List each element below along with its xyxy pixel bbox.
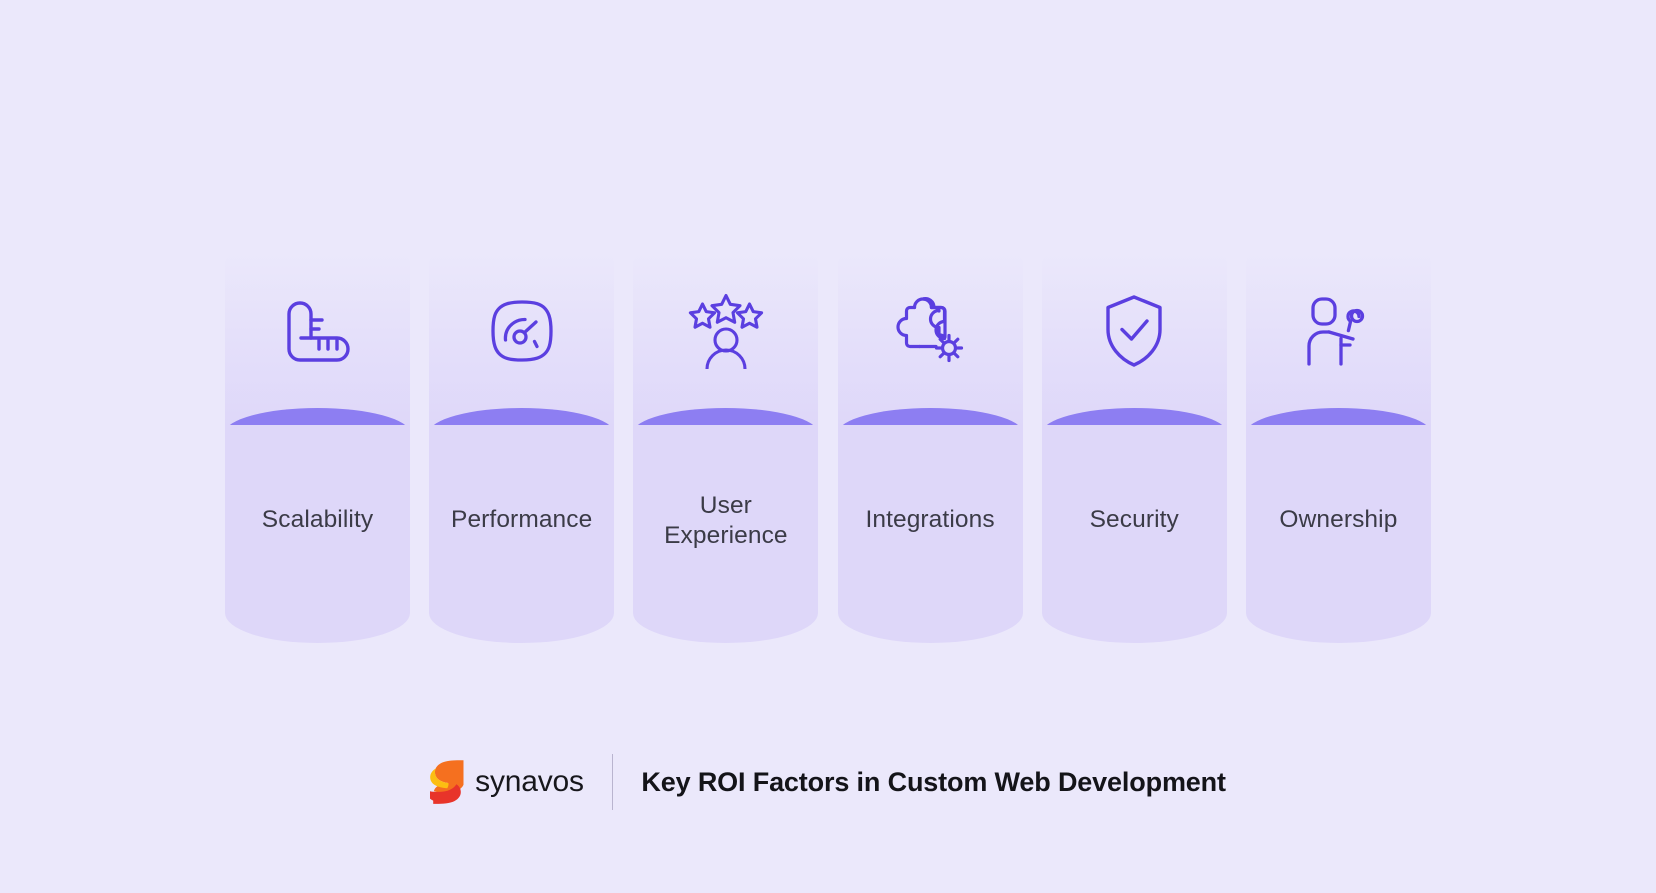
factor-label-integrations: Integrations bbox=[838, 505, 1023, 535]
brand-wordmark: synavos bbox=[475, 765, 584, 799]
factor-card-security[interactable]: Security bbox=[1042, 253, 1227, 643]
factor-card-user-experience[interactable]: User Experience bbox=[633, 253, 818, 643]
factor-label-performance: Performance bbox=[429, 505, 614, 535]
ruler-icon bbox=[225, 291, 410, 371]
factor-label-line1: User bbox=[700, 492, 752, 519]
factor-card-ownership[interactable]: Ownership bbox=[1246, 253, 1431, 643]
brand-logo[interactable]: synavos bbox=[430, 759, 584, 805]
user-stars-icon bbox=[633, 291, 818, 371]
factor-label-scalability: Scalability bbox=[225, 505, 410, 535]
factor-label-ownership: Ownership bbox=[1246, 505, 1431, 535]
factor-card-scalability[interactable]: Scalability bbox=[225, 253, 410, 643]
factor-label-line2: Experience bbox=[664, 522, 788, 549]
factor-label-security: Security bbox=[1042, 505, 1227, 535]
factor-card-performance[interactable]: Performance bbox=[429, 253, 614, 643]
factor-label-user-experience: User Experience bbox=[633, 491, 818, 551]
factor-card-integrations[interactable]: Integrations bbox=[838, 253, 1023, 643]
speedometer-icon bbox=[429, 291, 614, 371]
footer-title: Key ROI Factors in Custom Web Developmen… bbox=[641, 767, 1225, 798]
puzzle-gear-icon bbox=[838, 291, 1023, 371]
footer: synavos Key ROI Factors in Custom Web De… bbox=[0, 742, 1656, 822]
footer-divider bbox=[612, 754, 614, 810]
synavos-s-ribbon-icon bbox=[430, 759, 464, 805]
shield-check-icon bbox=[1042, 291, 1227, 371]
roi-factors-row: Scalability Performance bbox=[225, 253, 1431, 643]
person-key-icon bbox=[1246, 291, 1431, 371]
